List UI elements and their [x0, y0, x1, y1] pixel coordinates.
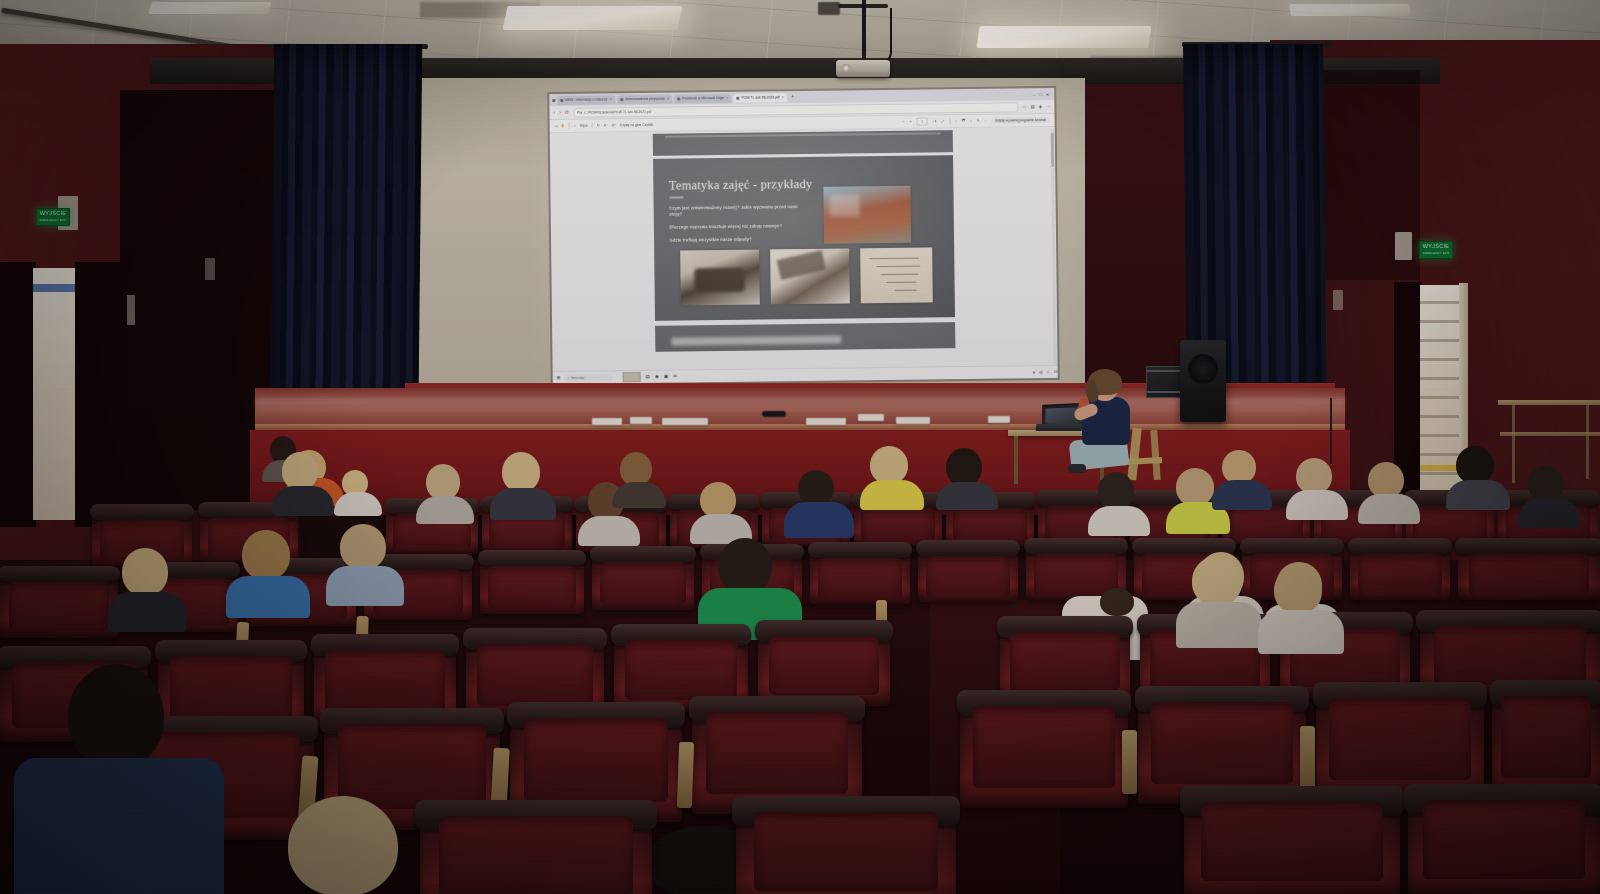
ceiling-light-panel: [1289, 4, 1411, 16]
door-jamb-left-inner: [75, 262, 127, 527]
next-slide-page: [655, 322, 955, 352]
shoulders: [490, 488, 556, 520]
toolbar-separator: [569, 123, 570, 129]
flight-case: [1146, 366, 1184, 398]
ceiling-light-panel: [148, 2, 271, 14]
head: [1192, 556, 1242, 606]
pdf-search-icon[interactable]: ⌕: [574, 124, 576, 128]
wall-speaker: [1395, 232, 1412, 260]
shoulders: [612, 482, 666, 508]
projector-cable: [876, 8, 892, 64]
head: [798, 470, 834, 506]
shoulders: [1176, 602, 1262, 648]
stage-paper: [662, 418, 708, 425]
audience-person: [274, 452, 330, 514]
auditorium-seat[interactable]: [1350, 542, 1450, 600]
head: [242, 530, 290, 580]
auditorium-seat[interactable]: [1492, 684, 1600, 798]
table-leg: [1014, 436, 1018, 484]
audience-person: [1288, 458, 1344, 518]
chrome-icon[interactable]: ◉: [655, 374, 659, 380]
audience-person: [1360, 462, 1416, 522]
exit-sign-left: WYJŚCIE EMERGENCY EXIT: [36, 208, 70, 226]
browser-tab-1[interactable]: Zrównoważona przyszłość ✕: [617, 94, 672, 104]
volume-icon[interactable]: ◂)): [1039, 370, 1043, 374]
url-text: C:/PCWR/szkolenia/PCW-TL-szk-58.2023.pdf: [584, 109, 651, 114]
auditorium-seat[interactable]: [592, 550, 694, 610]
auditorium-seat[interactable]: [480, 554, 584, 614]
read-aloud-label[interactable]: Czytaj na głos Czytnik: [620, 123, 653, 127]
slide-title: Tematyka zajęć - przykłady: [669, 177, 813, 194]
audience-person: [494, 452, 552, 518]
head: [718, 538, 772, 594]
mail-icon[interactable]: ✉: [673, 374, 677, 380]
favicon: [620, 98, 623, 101]
pdf-scrollbar-thumb[interactable]: [1051, 133, 1054, 167]
audience-person: [1262, 566, 1340, 652]
audience-person: [330, 524, 400, 604]
shoulders: [1088, 506, 1150, 536]
audience-person: [268, 796, 428, 894]
slide-bullet-2: Gdzie trafiają wszystkie nasze odpady?: [670, 236, 805, 244]
head: [870, 446, 908, 484]
projector-lens-icon: [842, 64, 850, 72]
auditorium-seat[interactable]: [960, 694, 1128, 808]
head: [1098, 472, 1134, 510]
shoulders: [226, 576, 310, 618]
shoulders: [1212, 480, 1272, 510]
exit-sign-left-sublabel: EMERGENCY EXIT: [40, 219, 67, 222]
shoulders: [1446, 480, 1510, 510]
hanging-speaker: [818, 2, 840, 15]
page-number-input[interactable]: 3: [917, 117, 928, 125]
head: [1100, 588, 1134, 616]
toolbar-separator: [592, 123, 593, 129]
audience-person: [232, 530, 304, 614]
auditorium-seat[interactable]: [1408, 788, 1600, 894]
taskbar-search-input[interactable]: ⌕ Wyszukaj: [565, 374, 613, 382]
collections-icon[interactable]: ▤: [1030, 104, 1034, 110]
audience-person: [112, 548, 182, 628]
zoom-in-button[interactable]: +: [910, 120, 912, 124]
head: [946, 448, 982, 486]
head: [426, 464, 460, 500]
taskbar-edge-thumbnail[interactable]: [623, 372, 641, 382]
exit-sign-right-label: WYJŚCIE: [1423, 245, 1450, 251]
taskbar-search-placeholder: Wyszukaj: [571, 376, 584, 380]
battery-icon[interactable]: ▭: [1047, 370, 1050, 374]
microphone-stand: [1330, 398, 1332, 464]
search-icon: ⌕: [568, 376, 570, 380]
stage-paper: [988, 416, 1010, 423]
exit-sign-right: WYJŚCIE EMERGENCY EXIT: [1419, 241, 1453, 259]
head: [620, 452, 652, 486]
new-tab-button[interactable]: +: [789, 94, 796, 100]
pdf-viewport[interactable]: Tematyka zajęć - przykłady Czym jest zró…: [550, 127, 1058, 376]
head: [340, 524, 386, 570]
presenter-shoe: [1068, 464, 1086, 473]
shoulders: [14, 758, 224, 894]
stage-paper: [630, 417, 652, 424]
forward-arrow-icon[interactable]: ›: [559, 109, 561, 115]
head: [1456, 446, 1494, 484]
projector-mount-pole: [862, 0, 866, 62]
audience-person: [788, 470, 848, 536]
text-increase-icon[interactable]: A⁺: [612, 123, 616, 127]
current-slide: Tematyka zajęć - przykłady Czym jest zró…: [653, 155, 955, 321]
browser-essentials-icon[interactable]: ◈: [1039, 104, 1042, 110]
slide-image-classroom: [823, 186, 911, 244]
shoulders: [1286, 490, 1348, 520]
next-slide-title-placeholder: [671, 336, 841, 346]
projection-screen: MEN - informacja o naborze ✕ Zrównoważon…: [547, 86, 1060, 386]
shoulders: [578, 516, 640, 546]
auditorium-seat[interactable]: [420, 804, 652, 894]
seat-armrest: [677, 742, 694, 808]
edge-browser-window: MEN - informacja o naborze ✕ Zrównoważon…: [549, 88, 1058, 384]
taskbar-tray: ▮ ◂)) ▭ 10:21: [1033, 370, 1058, 374]
ceiling-light-panel: [976, 26, 1151, 48]
shoulders: [272, 486, 334, 516]
auditorium-seat[interactable]: [1184, 790, 1400, 894]
auditorium-photo: WYJŚCIE EMERGENCY EXIT WYJŚCIE EMERGENCY…: [0, 0, 1600, 894]
rotate-icon[interactable]: ↻: [597, 123, 600, 127]
maximize-icon[interactable]: □: [1039, 92, 1041, 97]
favorites-icon[interactable]: ☆: [1023, 104, 1027, 110]
draw-icon[interactable]: ✎: [977, 119, 980, 123]
save-icon[interactable]: ⤓: [970, 119, 972, 123]
slide-bullet-1: Dlaczego naprawa kosztuje więcej niż zak…: [669, 223, 804, 231]
erase-icon[interactable]: ◌: [985, 119, 987, 123]
close-window-icon[interactable]: ✕: [1046, 91, 1049, 96]
audience-person: [862, 446, 920, 508]
shoulders: [1258, 610, 1344, 654]
browser-tab-2[interactable]: Powitanie w Microsoft Edge ✕: [674, 93, 731, 103]
refresh-icon[interactable]: ⟳: [565, 109, 569, 115]
select-tool-icon[interactable]: ▭: [555, 124, 558, 128]
microphone-on-stage: [762, 411, 786, 417]
door-jamb-left: [0, 262, 36, 527]
head: [282, 452, 318, 490]
browser-tab-0-label: MEN - informacja o naborze: [565, 97, 607, 102]
favicon: [560, 98, 563, 101]
audience-person: [420, 464, 470, 522]
auditorium-seat[interactable]: [758, 624, 890, 706]
text-decrease-icon[interactable]: A⁻: [604, 123, 608, 127]
close-icon[interactable]: ✕: [726, 96, 729, 100]
side-table-leg: [1586, 405, 1589, 479]
audience-person: [692, 482, 748, 542]
stage-paper: [806, 418, 846, 425]
exit-door-left[interactable]: [33, 268, 75, 520]
shoulders: [860, 480, 924, 510]
close-icon[interactable]: ✕: [610, 97, 613, 101]
toolbar-separator: [949, 118, 950, 124]
shoulders: [108, 592, 186, 632]
shoulders: [1358, 494, 1420, 524]
wall-plate: [205, 258, 215, 280]
stage-paper: [858, 414, 884, 421]
zoom-out-button[interactable]: −: [903, 120, 905, 124]
browser-tab-1-label: Zrównoważona przyszłość: [625, 97, 665, 101]
favicon: [736, 96, 739, 99]
auditorium-seat[interactable]: [918, 544, 1018, 602]
fit-page-icon[interactable]: ⤢: [941, 119, 944, 123]
taskbar-app-list: ▤ ◉ ▣ ✉: [623, 372, 678, 383]
hand-tool-icon[interactable]: ✋: [561, 124, 565, 128]
start-button[interactable]: ⊞: [557, 375, 561, 381]
taskbar-clock[interactable]: 10:21: [1054, 370, 1058, 374]
slide-bullet-list: Czym jest zrównoważony rozwój? Jakie wyz…: [669, 204, 805, 251]
close-icon[interactable]: ✕: [667, 97, 670, 101]
auditorium-seat[interactable]: [810, 546, 910, 604]
browser-tab-3-label: PCW-TL-szk-58.2023.pdf: [741, 95, 779, 99]
audience-person: [338, 470, 378, 512]
exit-sign-left-label: WYJŚCIE: [40, 212, 67, 218]
head: [700, 482, 736, 518]
audience-person: [1090, 472, 1146, 534]
find-icon[interactable]: ⌕: [955, 119, 957, 123]
head: [502, 452, 540, 492]
head: [1296, 458, 1332, 494]
audience-person: [1448, 446, 1506, 508]
url-protocol-label: Plik: [577, 110, 582, 114]
page-total-label: / 4: [933, 119, 937, 123]
auditorium-seat[interactable]: [1316, 686, 1484, 800]
settings-icon[interactable]: ⋯: [1046, 103, 1050, 109]
slide-image-repair: [770, 248, 850, 304]
auditorium-seat[interactable]: [0, 570, 118, 638]
audience-person: [938, 448, 994, 508]
explorer-icon[interactable]: ▤: [646, 374, 650, 380]
pdf-select-tools[interactable]: ▭ ✋: [555, 124, 566, 128]
window-controls[interactable]: – □ ✕: [1033, 91, 1051, 96]
pa-speaker: [1180, 340, 1226, 422]
shoulders: [334, 492, 382, 516]
slide-image-compost: [680, 250, 760, 306]
slide-bullet-0: Czym jest zrównoważony rozwój? Jakie wyz…: [669, 204, 804, 218]
head: [1274, 566, 1322, 614]
shoulders: [326, 566, 404, 606]
chair-back-rail: [1150, 430, 1160, 480]
pdf-search-label: Ręce: [580, 124, 588, 128]
head: [1176, 468, 1214, 506]
slide-title-rule: [669, 196, 683, 198]
pdf-toolbar-right: − + 3 / 4 ⤢ ⌕ 🖶 ⤓ ✎ ◌ Edytuj w pewnej pr…: [903, 116, 1050, 126]
audience-person: [1520, 466, 1576, 526]
head: [122, 548, 168, 596]
head: [288, 796, 398, 894]
auditorium-seat[interactable]: [1458, 542, 1600, 600]
head: [68, 664, 164, 768]
close-icon[interactable]: ✕: [782, 95, 785, 99]
head: [1528, 466, 1564, 502]
browser-tab-0[interactable]: MEN - informacja o naborze ✕: [557, 95, 615, 105]
ceiling-projector: [836, 60, 890, 77]
shoulders: [784, 502, 854, 538]
previous-slide-page: [652, 130, 952, 156]
network-icon[interactable]: ▮: [1033, 370, 1035, 374]
stage-paper: [896, 417, 930, 424]
back-arrow-icon[interactable]: ‹: [553, 110, 555, 116]
browser-tab-2-label: Powitanie w Microsoft Edge: [682, 96, 724, 101]
favicon: [677, 97, 680, 100]
seat-armrest: [1122, 730, 1137, 794]
auditorium-seat[interactable]: [736, 800, 956, 894]
ceiling-light-panel: [502, 6, 682, 30]
address-bar-actions[interactable]: ☆ ▤ ◈ ⋯: [1023, 103, 1051, 109]
head: [1368, 462, 1404, 498]
audience-person: [1214, 450, 1268, 508]
side-table-shelf: [1500, 432, 1600, 436]
slide-image-handwritten-letter: [860, 247, 933, 303]
print-icon[interactable]: 🖶: [962, 118, 965, 124]
previous-slide-text-placeholder: [664, 132, 940, 137]
audience-person: [24, 664, 204, 894]
audience-person: [614, 452, 662, 506]
pdf-scrollbar[interactable]: [1051, 129, 1057, 367]
shoulders: [1518, 498, 1580, 528]
teams-icon[interactable]: ▣: [664, 374, 668, 380]
head: [1222, 450, 1256, 484]
side-table-leg: [1512, 405, 1515, 483]
app-menu-icon[interactable]: [552, 99, 555, 102]
stage-paper: [592, 418, 622, 425]
exit-sign-right-sublabel: EMERGENCY EXIT: [1423, 252, 1450, 255]
minimize-icon[interactable]: –: [1033, 92, 1035, 97]
audience-person: [1180, 556, 1258, 646]
shoulders: [416, 496, 474, 524]
browser-tab-3[interactable]: PCW-TL-szk-58.2023.pdf ✕: [733, 93, 787, 103]
shoulders: [936, 482, 998, 510]
light-switch-panel: [1333, 290, 1343, 310]
seat-armrest: [1300, 726, 1315, 790]
edge-acrobat-notice[interactable]: Edytuj w pewnej programie Acrobat: [992, 117, 1050, 124]
